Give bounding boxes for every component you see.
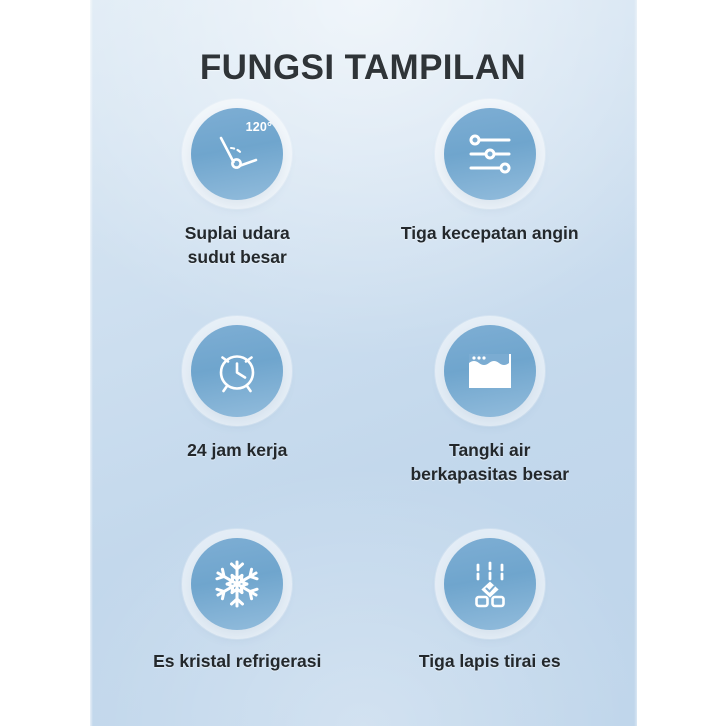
feature-icon-badge: 120°: [191, 108, 283, 200]
water-tank-icon: [465, 348, 515, 394]
feature-item-fan-speed[interactable]: Tiga kecepatan angin: [373, 108, 608, 323]
feature-item-water-tank[interactable]: Tangki air berkapasitas besar: [373, 323, 608, 538]
page-title: FUNGSI TAMPILAN: [0, 48, 726, 88]
feature-grid: 120° Suplai udara sudut besar Tig: [120, 108, 607, 726]
feature-caption: Tiga kecepatan angin: [401, 222, 579, 246]
ice-curtain-icon: [465, 559, 515, 609]
poster-root: FUNGSI TAMPILAN 120° Suplai udara sudut …: [0, 0, 726, 726]
feature-item-angle[interactable]: 120° Suplai udara sudut besar: [120, 108, 355, 323]
angle-value-label: 120°: [246, 120, 273, 134]
feature-icon-badge: [444, 108, 536, 200]
alarm-clock-icon: [210, 344, 264, 398]
feature-caption: Suplai udara sudut besar: [185, 222, 290, 269]
feature-icon-badge: [444, 325, 536, 417]
feature-item-24h[interactable]: 24 jam kerja: [120, 323, 355, 538]
feature-icon-badge: [191, 325, 283, 417]
angle-120-icon: [209, 126, 265, 182]
feature-icon-badge: [191, 538, 283, 630]
feature-caption: Es kristal refrigerasi: [153, 650, 321, 674]
feature-caption: Tiga lapis tirai es: [419, 650, 561, 674]
feature-item-ice-curtain[interactable]: Tiga lapis tirai es: [373, 538, 608, 726]
snowflake-icon: [211, 558, 263, 610]
feature-icon-badge: [444, 538, 536, 630]
feature-item-ice-crystal[interactable]: Es kristal refrigerasi: [120, 538, 355, 726]
three-speed-slider-icon: [464, 131, 516, 177]
feature-caption: 24 jam kerja: [187, 439, 287, 463]
feature-caption: Tangki air berkapasitas besar: [410, 439, 569, 486]
